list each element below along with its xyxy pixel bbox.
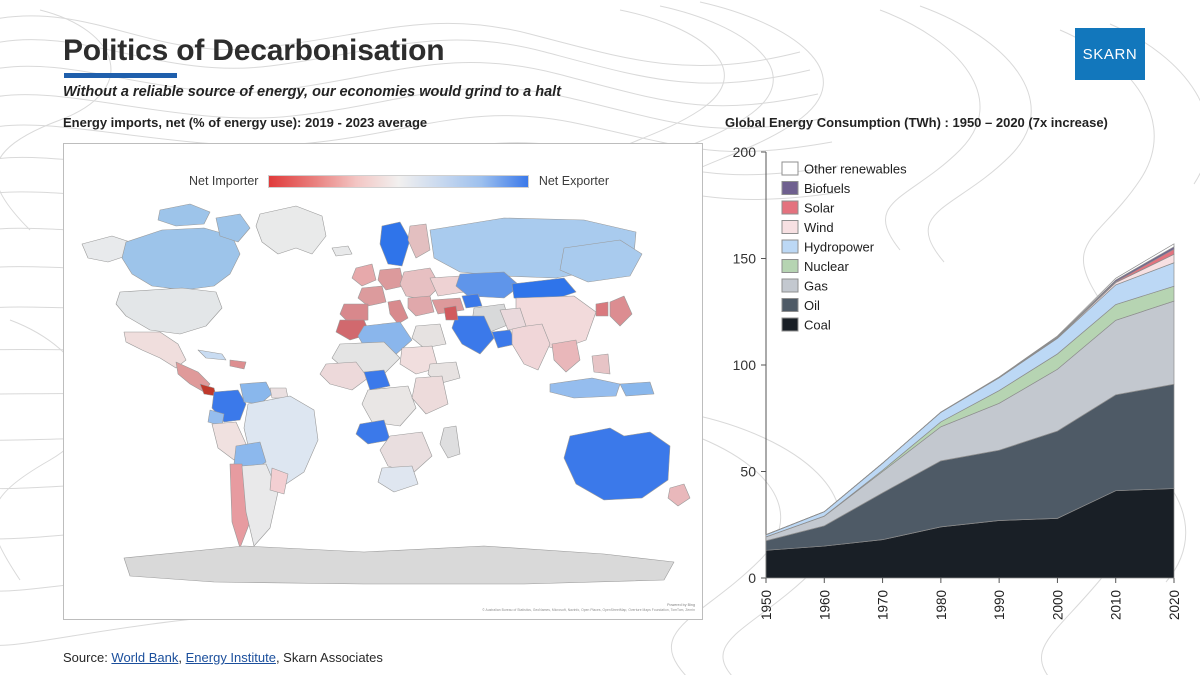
legend-swatch-other-renewables[interactable] xyxy=(782,162,798,175)
y-axis-tick-label: 50 xyxy=(740,464,756,480)
legend-label-other-renewables: Other renewables xyxy=(804,162,907,177)
x-axis-tick-label: 1990 xyxy=(992,590,1007,620)
country-nigeria[interactable] xyxy=(364,370,390,390)
source-prefix: Source: xyxy=(63,650,111,665)
page-title: Politics of Decarbonisation xyxy=(63,34,763,68)
y-axis-tick-label: 100 xyxy=(733,357,757,373)
country-levant[interactable] xyxy=(444,306,458,320)
country-united-states[interactable] xyxy=(116,288,222,334)
country-finland[interactable] xyxy=(408,224,430,258)
country-balkans[interactable] xyxy=(408,296,434,316)
x-axis-tick-label: 1950 xyxy=(759,590,774,620)
legend-swatch-coal[interactable] xyxy=(782,318,798,331)
map-attribution: Powered by Bing © Australian Bureau of S… xyxy=(482,603,695,613)
legend-label-oil: Oil xyxy=(804,298,820,313)
country-png[interactable] xyxy=(620,382,654,396)
legend-swatch-hydropower[interactable] xyxy=(782,240,798,253)
legend-label-hydropower: Hydropower xyxy=(804,240,875,255)
country-iberia[interactable] xyxy=(340,304,368,322)
legend-label-net-exporter: Net Exporter xyxy=(539,174,609,188)
country-indonesia[interactable] xyxy=(550,378,620,398)
country-australia[interactable] xyxy=(564,428,670,500)
x-axis-tick-label: 2020 xyxy=(1167,590,1182,620)
country-new-zealand[interactable] xyxy=(668,484,690,506)
x-axis-tick-label: 2010 xyxy=(1109,590,1124,620)
title-underline-rule xyxy=(64,73,177,78)
country-iceland[interactable] xyxy=(332,246,352,256)
legend-swatch-solar[interactable] xyxy=(782,201,798,214)
legend-swatch-nuclear[interactable] xyxy=(782,260,798,273)
energy-consumption-chart[interactable]: 0501001502001950196019701980199020002010… xyxy=(718,140,1188,640)
y-axis-tick-label: 0 xyxy=(748,570,756,586)
legend-label-coal: Coal xyxy=(804,318,831,333)
country-uk-ireland[interactable] xyxy=(352,264,376,286)
country-greenland[interactable] xyxy=(256,206,326,254)
source-line: Source: World Bank, Energy Institute, Sk… xyxy=(63,650,763,665)
legend-label-nuclear: Nuclear xyxy=(804,259,849,274)
legend-label-gas: Gas xyxy=(804,279,828,294)
map-panel[interactable]: Net Importer Net Exporter xyxy=(63,143,703,620)
country-norway-sweden[interactable] xyxy=(380,222,410,266)
legend-swatch-wind[interactable] xyxy=(782,221,798,234)
y-axis-tick-label: 200 xyxy=(733,144,757,160)
country-japan[interactable] xyxy=(610,296,632,326)
country-italy[interactable] xyxy=(388,300,408,324)
x-axis-tick-label: 1960 xyxy=(817,590,832,620)
country-egypt[interactable] xyxy=(412,324,446,348)
map-attribution-text: © Australian Bureau of Statistics, GeoNa… xyxy=(482,608,695,613)
country-madagascar[interactable] xyxy=(440,426,460,458)
source-separator: , xyxy=(178,650,185,665)
chart-svg[interactable]: 0501001502001950196019701980199020002010… xyxy=(718,140,1188,640)
country-koreas[interactable] xyxy=(596,302,608,316)
country-philippines[interactable] xyxy=(592,354,610,374)
x-axis-tick-label: 2000 xyxy=(1050,590,1065,620)
x-axis-tick-label: 1970 xyxy=(876,590,891,620)
country-canada[interactable] xyxy=(122,228,240,290)
page-subtitle: Without a reliable source of energy, our… xyxy=(63,84,823,100)
country-cuba[interactable] xyxy=(198,350,226,360)
country-hispaniola[interactable] xyxy=(230,360,246,369)
chart-caption: Global Energy Consumption (TWh) : 1950 –… xyxy=(725,115,1195,130)
country-canada-arctic[interactable] xyxy=(158,204,210,226)
source-link-world-bank[interactable]: World Bank xyxy=(111,650,178,665)
legend-label-wind: Wind xyxy=(804,220,834,235)
x-axis-tick-label: 1980 xyxy=(934,590,949,620)
country-south-africa[interactable] xyxy=(378,466,418,492)
country-caucasus[interactable] xyxy=(462,294,482,308)
y-axis-tick-label: 150 xyxy=(733,251,757,267)
logo-text: SKARN xyxy=(1083,46,1138,63)
country-east-africa[interactable] xyxy=(412,376,448,414)
legend-label-biofuels: Biofuels xyxy=(804,181,851,196)
legend-swatch-oil[interactable] xyxy=(782,299,798,312)
map-color-legend: Net Importer Net Exporter xyxy=(189,170,609,192)
country-southeast-asia[interactable] xyxy=(552,340,580,372)
legend-gradient-bar xyxy=(268,175,528,188)
legend-label-solar: Solar xyxy=(804,201,835,216)
world-choropleth-map[interactable] xyxy=(64,192,702,592)
country-france[interactable] xyxy=(358,286,386,306)
country-angola[interactable] xyxy=(356,420,390,444)
skarn-logo: SKARN xyxy=(1075,28,1145,80)
legend-swatch-gas[interactable] xyxy=(782,279,798,292)
country-india[interactable] xyxy=(512,324,550,370)
source-suffix: , Skarn Associates xyxy=(276,650,383,665)
legend-swatch-biofuels[interactable] xyxy=(782,182,798,195)
legend-label-net-importer: Net Importer xyxy=(189,174,258,188)
map-caption: Energy imports, net (% of energy use): 2… xyxy=(63,115,703,130)
country-guyanas[interactable] xyxy=(270,388,288,398)
country-angola-congo[interactable] xyxy=(362,386,416,426)
source-link-energy-institute[interactable]: Energy Institute xyxy=(186,650,276,665)
country-antarctica[interactable] xyxy=(124,546,674,584)
